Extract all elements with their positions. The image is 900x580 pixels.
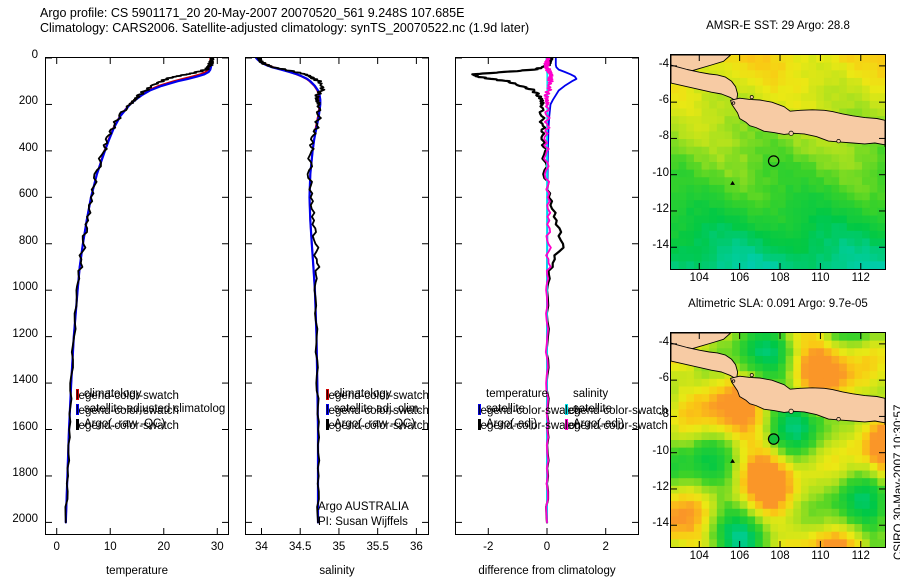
map-lon-tick-106: 106 [722, 272, 758, 284]
map-lat-tick--10: -10 [645, 445, 669, 457]
map-lat-tick--8: -8 [645, 408, 669, 420]
sla-map-image[interactable] [671, 333, 885, 547]
salinity-tick-35.5: 35.5 [356, 541, 400, 553]
difference-axis-label: difference from climatology [455, 565, 639, 577]
temperature-tick-0: 0 [37, 541, 77, 553]
depth-tick-400: 400 [0, 142, 38, 154]
sla-map-title: Altimetric SLA: 0.091 Argo: 9.7e-05 [668, 298, 888, 310]
legend-item: legend-color-swatchsatellite adj. clim. [326, 402, 422, 417]
map-lon-tick-104: 104 [681, 272, 717, 284]
map-lon-tick-110: 110 [802, 272, 838, 284]
legend-label: satellite-adjusted climatolog [84, 402, 225, 417]
map-lon-tick-112: 112 [843, 550, 879, 562]
legend-label: Argo(-adj) [573, 417, 624, 432]
difference-tick--2: -2 [468, 541, 508, 553]
legend-label: satellite [486, 402, 525, 417]
legend-heading-salinity: salinity [565, 387, 624, 402]
map-lon-tick-112: 112 [843, 272, 879, 284]
legend-item: legend-color-swatchArgo(..raw -QC) [76, 417, 225, 432]
legend-item: legend-color-swatchsatellite [478, 402, 548, 417]
depth-tick-1200: 1200 [0, 328, 38, 340]
map-lon-tick-104: 104 [681, 550, 717, 562]
argo-credit-pi: PI: Susan Wijffels [318, 515, 409, 530]
temperature-profile-panel [45, 57, 229, 535]
map-lon-tick-110: 110 [802, 550, 838, 562]
legend-label: Argo(..raw -QC) [84, 417, 165, 432]
map-lat-tick--6: -6 [645, 94, 669, 106]
legend-item: legend-color-swatchArgo(..raw -QC) [326, 417, 422, 432]
salinity-profile-panel [245, 57, 429, 535]
salinity-tick-36: 36 [394, 541, 438, 553]
salinity-profile-plot [246, 58, 428, 534]
map-lat-tick--4: -4 [645, 58, 669, 70]
map-lat-tick--8: -8 [645, 130, 669, 142]
depth-tick-1000: 1000 [0, 281, 38, 293]
argo-credit-org: Argo AUSTRALIA [318, 500, 409, 515]
sst-map-title: AMSR-E SST: 29 Argo: 28.8 [668, 20, 888, 32]
map-lat-tick--14: -14 [645, 517, 669, 529]
depth-tick-2000: 2000 [0, 513, 38, 525]
legend-label: climatology [84, 387, 142, 402]
temperature-profile-plot [46, 58, 228, 534]
temperature-axis-label: temperature [45, 565, 229, 577]
salinity-tick-34.5: 34.5 [278, 541, 322, 553]
legend-heading-temperature: temperature [478, 387, 548, 402]
map-lon-tick-108: 108 [762, 272, 798, 284]
legend-item: legend-color-swatchclimatology [326, 387, 422, 402]
difference-legend-salinity: salinitylegend-color-swatchsatellitelege… [565, 387, 624, 432]
temperature-tick-10: 10 [90, 541, 130, 553]
sst-map-image[interactable] [671, 55, 885, 269]
difference-tick-0: 0 [527, 541, 567, 553]
legend-item: legend-color-swatchclimatology [76, 387, 225, 402]
depth-tick-0: 0 [0, 49, 38, 61]
legend-item: legend-color-swatchArgo(-adj) [478, 417, 548, 432]
profile-location-marker[interactable] [768, 434, 778, 444]
legend-label: satellite [573, 402, 612, 417]
depth-tick-1400: 1400 [0, 374, 38, 386]
difference-tick-2: 2 [586, 541, 626, 553]
argo-credit: Argo AUSTRALIA PI: Susan Wijffels [318, 500, 409, 530]
map-lat-tick--4: -4 [645, 336, 669, 348]
map-lat-tick--10: -10 [645, 167, 669, 179]
difference-profile-panel [455, 57, 639, 535]
temperature-legend: legend-color-swatchclimatologylegend-col… [76, 387, 225, 432]
map-lon-tick-108: 108 [762, 550, 798, 562]
figure-title-line1: Argo profile: CS 5901171_20 20-May-2007 … [40, 6, 529, 21]
figure-title-line2: Climatology: CARS2006. Satellite-adjuste… [40, 21, 529, 36]
depth-tick-800: 800 [0, 235, 38, 247]
map-lon-tick-106: 106 [722, 550, 758, 562]
map-lat-tick--6: -6 [645, 372, 669, 384]
map-lat-tick--14: -14 [645, 239, 669, 251]
legend-item: legend-color-swatchArgo(-adj) [565, 417, 624, 432]
legend-label: Argo(..raw -QC) [334, 417, 415, 432]
depth-tick-1800: 1800 [0, 467, 38, 479]
temperature-tick-30: 30 [197, 541, 237, 553]
salinity-axis-label: salinity [245, 565, 429, 577]
sla-map-panel[interactable] [670, 332, 886, 548]
salinity-tick-35: 35 [317, 541, 361, 553]
temperature-tick-20: 20 [144, 541, 184, 553]
csiro-timestamp: CSIRO 30-May-2007 10:30:57 [893, 405, 900, 560]
legend-item: legend-color-swatchsatellite [565, 402, 624, 417]
depth-tick-600: 600 [0, 188, 38, 200]
map-lat-tick--12: -12 [645, 203, 669, 215]
map-lat-tick--12: -12 [645, 481, 669, 493]
figure-title: Argo profile: CS 5901171_20 20-May-2007 … [40, 6, 529, 36]
legend-item: legend-color-swatchsatellite-adjusted cl… [76, 402, 225, 417]
sst-map-panel[interactable] [670, 54, 886, 270]
difference-legend-temperature: temperaturelegend-color-swatchsatellitel… [478, 387, 548, 432]
difference-profile-plot [456, 58, 638, 534]
salinity-tick-34: 34 [239, 541, 283, 553]
legend-label: Argo(-adj) [486, 417, 537, 432]
legend-label: climatology [334, 387, 392, 402]
depth-tick-1600: 1600 [0, 421, 38, 433]
salinity-legend: legend-color-swatchclimatologylegend-col… [326, 387, 422, 432]
legend-label: satellite adj. clim. [334, 402, 422, 417]
depth-tick-200: 200 [0, 95, 38, 107]
